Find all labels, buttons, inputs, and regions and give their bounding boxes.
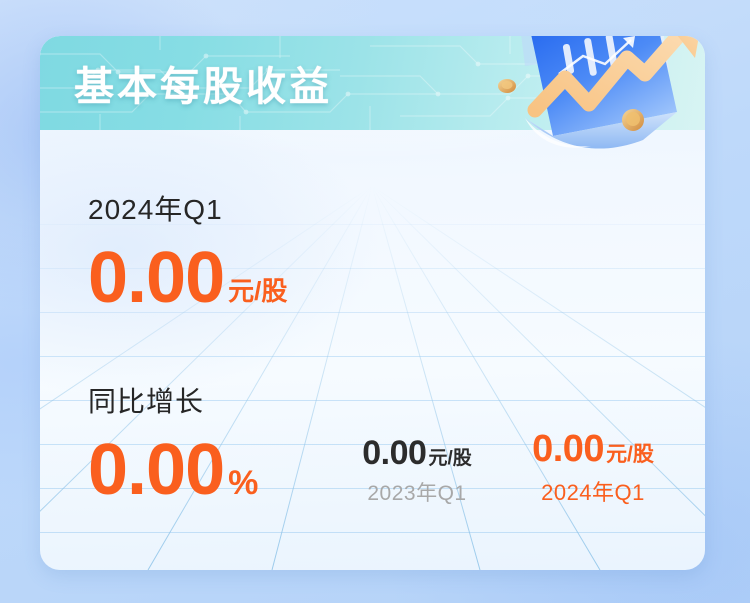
page-title: 基本每股收益 — [74, 54, 332, 112]
primary-period-label: 2024年Q1 — [88, 188, 287, 228]
primary-metric-block: 2024年Q1 0.00 元/股 — [88, 188, 287, 312]
comparison-previous-value: 0.00 — [362, 434, 426, 472]
comparison-previous-value-row: 0.00元/股 — [328, 434, 506, 473]
comparison-current-unit: 元/股 — [606, 443, 654, 466]
comparison-previous: 0.00元/股 2023年Q1 — [328, 434, 506, 507]
comparison-current-value-row: 0.00元/股 — [498, 428, 688, 471]
comparison-current: 0.00元/股 2024年Q1 — [498, 428, 688, 507]
comparison-current-value: 0.00 — [532, 428, 604, 470]
growth-metric-block: 同比增长 0.00 % — [88, 380, 258, 504]
card-header-banner: 基本每股收益 — [40, 36, 705, 130]
growth-unit: % — [228, 464, 258, 503]
comparison-previous-label: 2023年Q1 — [328, 477, 506, 507]
comparison-previous-unit: 元/股 — [428, 448, 471, 469]
primary-unit: 元/股 — [228, 271, 287, 308]
growth-value-row: 0.00 % — [88, 436, 258, 504]
primary-value: 0.00 — [88, 244, 224, 312]
comparison-current-label: 2024年Q1 — [498, 475, 688, 507]
growth-label: 同比增长 — [88, 380, 258, 420]
primary-value-row: 0.00 元/股 — [88, 244, 287, 312]
growth-value: 0.00 — [88, 436, 224, 504]
metric-card: 基本每股收益 — [40, 36, 705, 570]
